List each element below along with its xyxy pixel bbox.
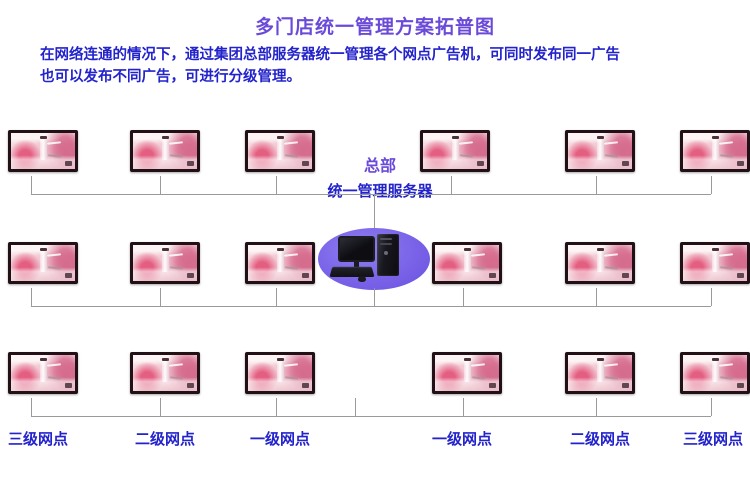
connector-drop	[711, 288, 712, 306]
ad-screen-content	[133, 245, 197, 281]
ad-screen-content	[248, 133, 312, 169]
advertising-display-icon[interactable]	[680, 130, 750, 172]
connector-to-server-top	[374, 194, 375, 230]
topology-diagram: 多门店统一管理方案拓普图 在网络连通的情况下，通过集团总部服务器统一管理各个网点…	[0, 0, 750, 485]
ad-screen-content	[683, 133, 747, 169]
tier-label-3: 一级网点	[250, 428, 310, 449]
ad-screen-content	[248, 355, 312, 391]
advertising-display-icon[interactable]	[8, 352, 78, 394]
description-line-2: 也可以发布不同广告，可进行分级管理。	[40, 66, 720, 88]
advertising-display-icon[interactable]	[565, 352, 635, 394]
ad-screen-content	[568, 355, 632, 391]
tier-label-6: 三级网点	[683, 428, 743, 449]
page-title: 多门店统一管理方案拓普图	[0, 12, 750, 39]
advertising-display-icon[interactable]	[130, 130, 200, 172]
tier-label-4: 一级网点	[432, 428, 492, 449]
management-server-node[interactable]	[318, 228, 430, 290]
advertising-display-icon[interactable]	[432, 242, 502, 284]
connector-drop	[31, 288, 32, 306]
ad-screen-content	[133, 355, 197, 391]
advertising-display-icon[interactable]	[8, 242, 78, 284]
connector-bus-row-2	[31, 306, 711, 307]
connector-bus-row-1	[31, 194, 711, 195]
connector-drop	[596, 398, 597, 416]
connector-drop	[160, 398, 161, 416]
advertising-display-icon[interactable]	[565, 242, 635, 284]
tier-label-1: 三级网点	[8, 428, 68, 449]
connector-drop	[596, 288, 597, 306]
page-description: 在网络连通的情况下，通过集团总部服务器统一管理各个网点广告机，可同时发布同一广告…	[40, 44, 720, 88]
ad-screen-content	[568, 245, 632, 281]
connector-drop	[31, 176, 32, 194]
ad-screen-content	[248, 245, 312, 281]
advertising-display-icon[interactable]	[680, 242, 750, 284]
advertising-display-icon[interactable]	[8, 130, 78, 172]
connector-bus-row-3	[31, 416, 711, 417]
ad-screen-content	[423, 133, 487, 169]
connector-drop	[451, 176, 452, 194]
connector-drop	[276, 288, 277, 306]
ad-screen-content	[683, 245, 747, 281]
server-monitor-icon	[338, 236, 375, 262]
connector-drop	[276, 398, 277, 416]
ad-screen-content	[683, 355, 747, 391]
connector-drop	[711, 176, 712, 194]
connector-drop	[276, 176, 277, 194]
tier-label-2: 二级网点	[135, 428, 195, 449]
ad-screen-content	[568, 133, 632, 169]
ad-screen-content	[11, 245, 75, 281]
advertising-display-icon[interactable]	[680, 352, 750, 394]
server-tower-icon	[377, 234, 399, 276]
ad-screen-content	[11, 133, 75, 169]
connector-drop-center	[355, 398, 356, 416]
advertising-display-icon[interactable]	[245, 130, 315, 172]
connector-drop	[596, 176, 597, 194]
connector-drop	[160, 288, 161, 306]
tier-label-5: 二级网点	[570, 428, 630, 449]
connector-drop	[463, 288, 464, 306]
advertising-display-icon[interactable]	[565, 130, 635, 172]
advertising-display-icon[interactable]	[245, 242, 315, 284]
connector-drop	[31, 398, 32, 416]
connector-drop	[711, 398, 712, 416]
advertising-display-icon[interactable]	[130, 352, 200, 394]
ad-screen-content	[435, 245, 499, 281]
advertising-display-icon[interactable]	[420, 130, 490, 172]
management-server-label: 统一管理服务器	[290, 180, 470, 201]
ad-screen-content	[435, 355, 499, 391]
keyboard-icon	[329, 267, 374, 277]
ad-screen-content	[11, 355, 75, 391]
connector-drop	[463, 398, 464, 416]
connector-drop	[160, 176, 161, 194]
ad-screen-content	[133, 133, 197, 169]
advertising-display-icon[interactable]	[432, 352, 502, 394]
connector-from-server-bottom	[374, 288, 375, 306]
advertising-display-icon[interactable]	[130, 242, 200, 284]
description-line-1: 在网络连通的情况下，通过集团总部服务器统一管理各个网点广告机，可同时发布同一广告	[40, 44, 720, 66]
advertising-display-icon[interactable]	[245, 352, 315, 394]
mouse-icon	[358, 276, 366, 282]
